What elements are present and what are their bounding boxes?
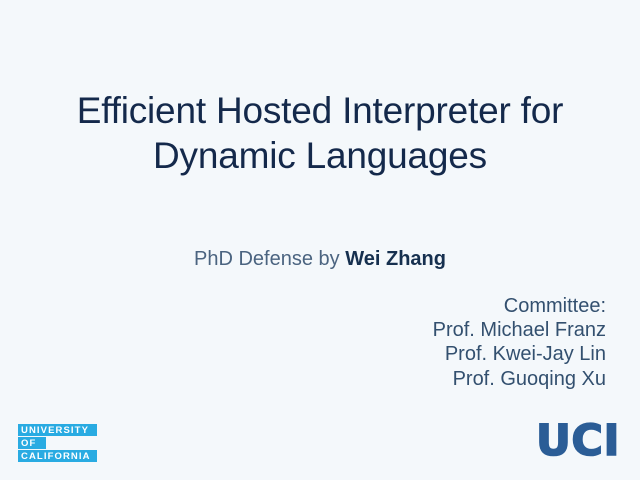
- committee-member-2: Prof. Kwei-Jay Lin: [433, 342, 606, 366]
- presentation-slide: Efficient Hosted Interpreter for Dynamic…: [0, 0, 640, 480]
- presenter-prefix-text: PhD Defense by: [194, 248, 345, 270]
- committee-member-3: Prof. Guoqing Xu: [433, 367, 606, 391]
- uc-logo-line-california: CALIFORNIA: [18, 450, 97, 462]
- university-of-california-logo: UNIVERSITY OF CALIFORNIA: [18, 424, 97, 462]
- presenter-name-text: Wei Zhang: [345, 248, 446, 270]
- page-title: Efficient Hosted Interpreter for Dynamic…: [0, 88, 640, 178]
- title-line-2: Dynamic Languages: [0, 133, 640, 178]
- uci-logo: UCI: [536, 420, 620, 463]
- committee-member-1: Prof. Michael Franz: [433, 318, 606, 342]
- title-line-1: Efficient Hosted Interpreter for: [0, 88, 640, 133]
- presenter-line: PhD Defense by Wei Zhang: [0, 246, 640, 272]
- uc-logo-line-of: OF: [18, 437, 46, 449]
- committee-block: Committee: Prof. Michael Franz Prof. Kwe…: [433, 294, 606, 391]
- committee-heading: Committee:: [433, 294, 606, 318]
- uc-logo-line-university: UNIVERSITY: [18, 424, 97, 436]
